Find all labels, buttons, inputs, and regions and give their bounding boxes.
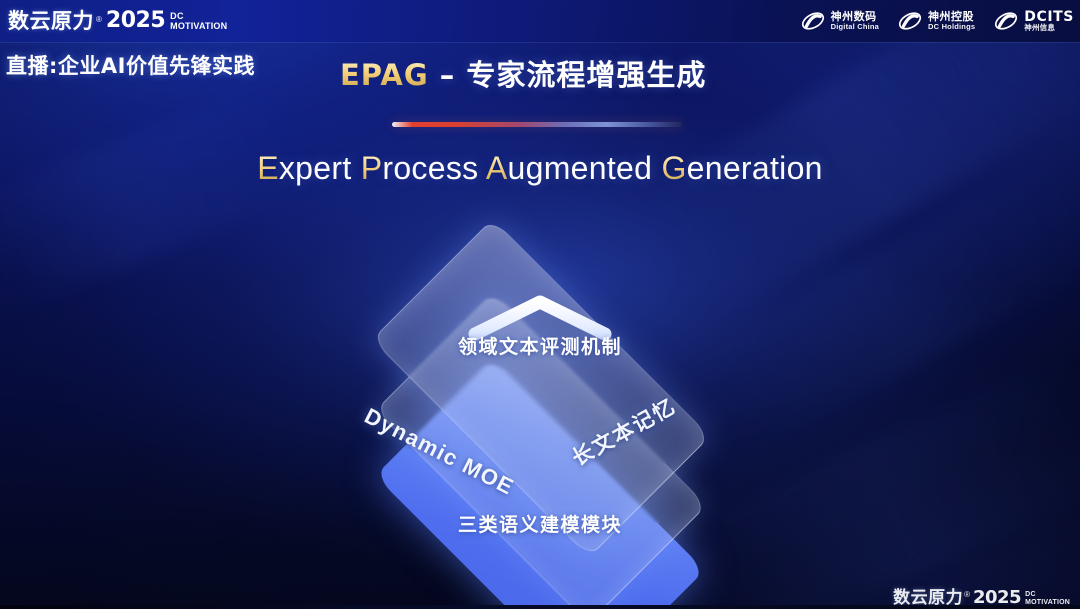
brand-subtitle-line1: DC	[170, 12, 227, 21]
brand-year: 2025	[106, 10, 165, 32]
partner-logo-dc-holdings: 神州控股 DC Holdings	[897, 9, 975, 33]
live-stream-label: 直播:企业AI价值先锋实践	[6, 50, 255, 80]
chevron-up-icon	[465, 292, 615, 344]
subtitle-rest-generation: eneration	[687, 150, 823, 186]
partner-logo-digital-china: 神州数码 Digital China	[800, 9, 879, 33]
brand-subtitle: DC MOTIVATION	[170, 12, 227, 31]
bottom-edge-bar	[0, 605, 1080, 609]
brand-registered-mark: ®	[96, 15, 102, 24]
brand-logo: 数云原力 ® 2025 DC MOTIVATION	[0, 10, 227, 32]
top-layer-plate	[372, 219, 711, 558]
footer-brand-subtitle: DC MOTIVATION	[1025, 591, 1070, 606]
slide-canvas: 数云原力 ® 2025 DC MOTIVATION 神州数码 Digital C…	[0, 0, 1080, 609]
subtitle-cap-p: P	[361, 150, 383, 186]
swoosh-icon	[897, 9, 923, 33]
partner-name-en: Digital China	[831, 23, 879, 31]
brand-subtitle-line2: MOTIVATION	[170, 22, 227, 31]
subtitle-rest-expert: xpert	[279, 150, 361, 186]
diagram-layer-top[interactable]	[270, 207, 810, 567]
subtitle-rest-process: rocess	[382, 150, 485, 186]
title-acronym: EPAG	[340, 58, 429, 92]
swoosh-icon	[993, 9, 1019, 33]
page-title: EPAG – 专家流程增强生成	[340, 52, 706, 94]
partner-name-cn: 神州信息	[1024, 24, 1074, 32]
title-dash: –	[429, 58, 467, 92]
footer-brand-registered-mark: ®	[964, 590, 970, 599]
subtitle-cap-e: E	[257, 150, 279, 186]
subtitle-rest-augmented: ugmented	[508, 150, 662, 186]
brand-name-cn: 数云原力	[8, 11, 94, 32]
partner-logo-group: 神州数码 Digital China 神州控股 DC Holdings	[800, 9, 1080, 33]
partner-logo-dcits: DCITS 神州信息	[993, 9, 1074, 33]
swoosh-icon	[800, 9, 826, 33]
page-subtitle: Expert Process Augmented Generation	[0, 150, 1080, 187]
layered-architecture-diagram	[270, 215, 810, 575]
header-bar: 数云原力 ® 2025 DC MOTIVATION 神州数码 Digital C…	[0, 0, 1080, 42]
gradient-divider	[392, 122, 682, 127]
title-chinese: 专家流程增强生成	[466, 58, 706, 92]
subtitle-cap-a: A	[486, 150, 508, 186]
subtitle-cap-g: G	[661, 150, 686, 186]
footer-brand-subtitle-line1: DC	[1025, 591, 1070, 598]
partner-name-en: DC Holdings	[928, 23, 975, 31]
